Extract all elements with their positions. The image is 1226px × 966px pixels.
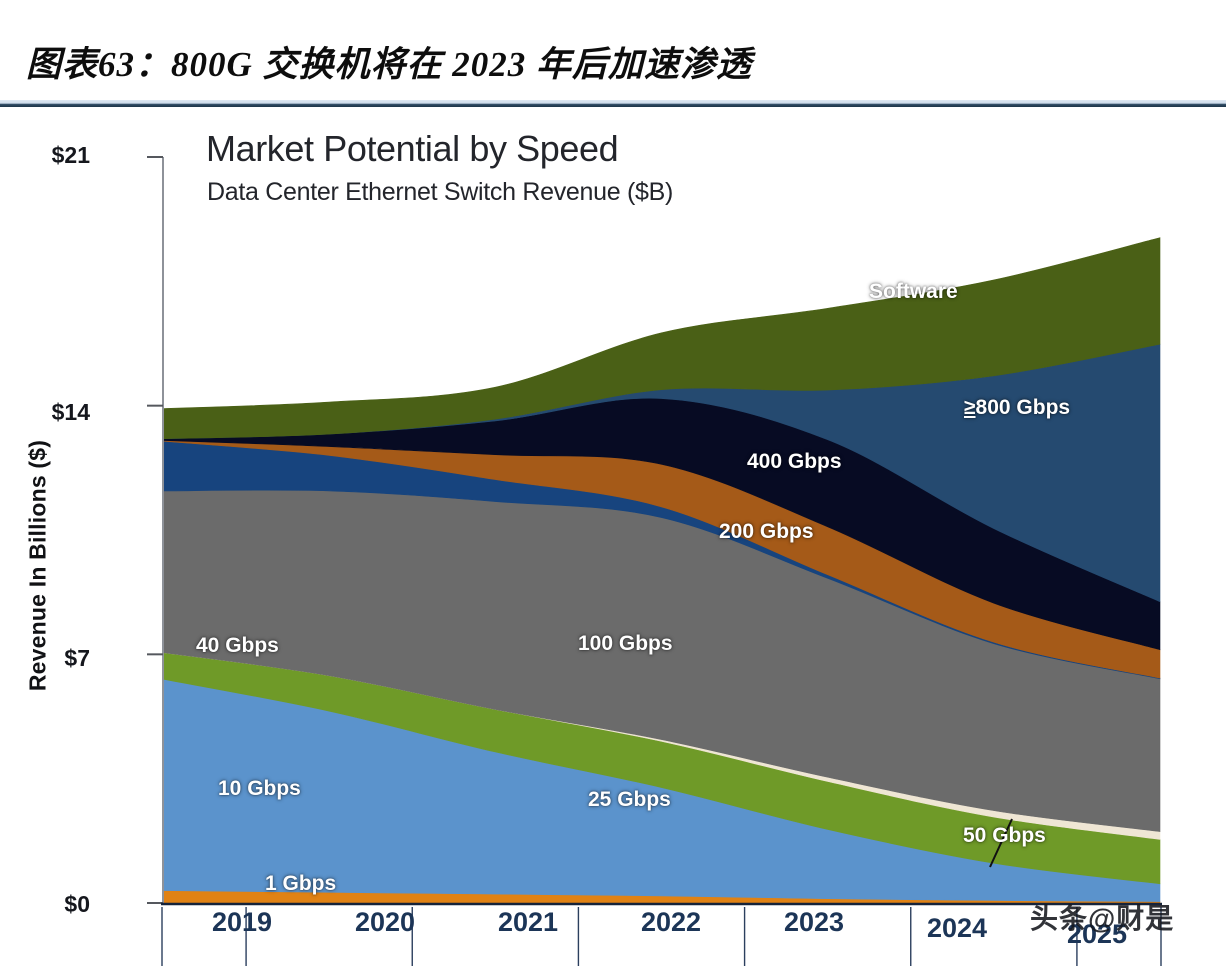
x-tick-label-2023: 2023: [743, 907, 885, 938]
x-tick-label-2024: 2024: [886, 913, 1028, 944]
x-tick-label-2019: 2019: [171, 907, 313, 938]
series-label-200-gbps: 200 Gbps: [719, 520, 814, 544]
page-root: 图表63：800G 交换机将在 2023 年后加速渗透 Market Poten…: [0, 0, 1226, 966]
series-label-400-gbps: 400 Gbps: [747, 450, 842, 474]
series-label-software: Software: [869, 280, 958, 304]
series-label-100-gbps: 100 Gbps: [578, 632, 673, 656]
watermark: 头条@财是: [1030, 897, 1174, 937]
stacked-area-chart: Market Potential by Speed Data Center Et…: [0, 107, 1226, 966]
y-tick-label-21: $21: [18, 142, 90, 169]
chart-subtitle: Data Center Ethernet Switch Revenue ($B): [207, 178, 673, 207]
x-tick-label-2020: 2020: [314, 907, 456, 938]
figure-header: 图表63：800G 交换机将在 2023 年后加速渗透: [0, 0, 1226, 104]
series-label-40-gbps: 40 Gbps: [196, 634, 279, 658]
y-tick-label-0: $0: [18, 891, 90, 918]
x-tick-label-2022: 2022: [600, 907, 742, 938]
series-label-50-gbps: 50 Gbps: [963, 824, 1046, 848]
y-tick-label-7: $7: [18, 645, 90, 672]
figure-title: 图表63：800G 交换机将在 2023 年后加速渗透: [26, 36, 752, 87]
chart-title: Market Potential by Speed: [206, 128, 618, 170]
series-label-800-gbps: ≥800 Gbps: [964, 396, 1070, 420]
series-label-1-gbps: 1 Gbps: [265, 872, 336, 896]
series-label-25-gbps: 25 Gbps: [588, 788, 671, 812]
x-tick-label-2021: 2021: [457, 907, 599, 938]
header-divider: [0, 100, 1226, 107]
series-label-10-gbps: 10 Gbps: [218, 777, 301, 801]
y-tick-label-14: $14: [18, 399, 90, 426]
